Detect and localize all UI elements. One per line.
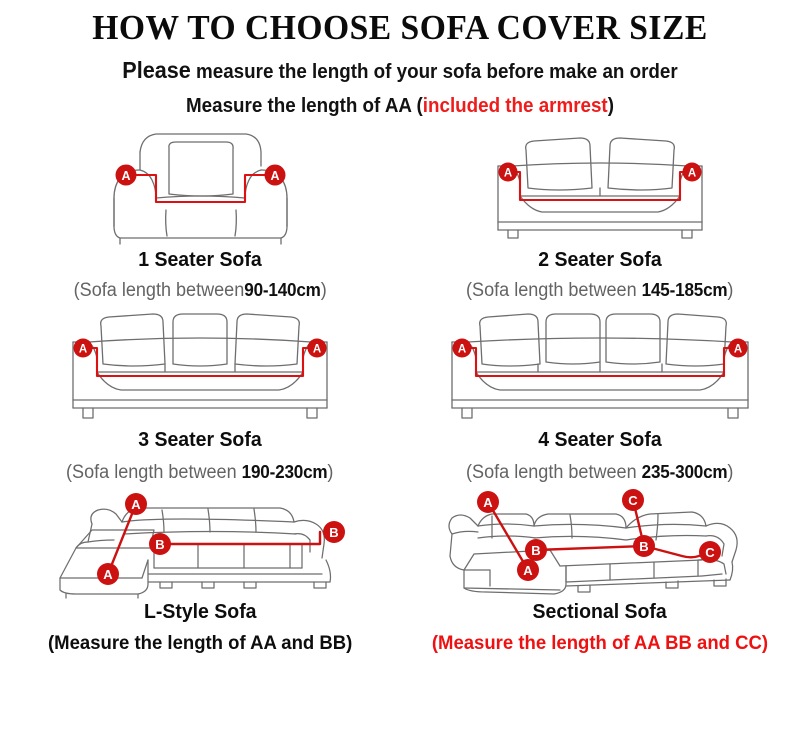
l-style-title: L-Style Sofa: [144, 602, 257, 623]
three-seater-caption-prefix: (Sofa length between: [66, 462, 237, 483]
one-seater-measurement: 90-140cm: [244, 280, 320, 300]
three-seater-title: 3 Seater Sofa: [138, 430, 261, 451]
sectional-illustration: A A B B C: [430, 482, 770, 600]
four-seater-marker-a-right: A: [729, 338, 748, 357]
sectional-marker-c-top: C: [622, 489, 644, 511]
four-seater-marker-a-left: A: [453, 338, 472, 357]
three-seater-marker-a-left: A: [74, 338, 93, 357]
l-style-marker-a-top: A: [125, 493, 147, 515]
svg-text:C: C: [705, 545, 715, 560]
sofa-cell-two-seater: A A 2 Seater Sofa (Sofa length between 1…: [400, 126, 800, 300]
l-style-marker-a-bottom: A: [97, 563, 119, 585]
sectional-title: Sectional Sofa: [533, 602, 667, 623]
sofa-grid: A A 1 Seater Sofa (Sofa length between90…: [0, 126, 800, 653]
three-seater-caption: (Sofa length between 190-230cm): [66, 463, 333, 482]
one-seater-measure-line: [126, 175, 275, 202]
sofa-cell-one-seater: A A 1 Seater Sofa (Sofa length between90…: [0, 126, 400, 300]
l-style-illustration: A A B B: [30, 482, 370, 600]
four-seater-caption-prefix: (Sofa length between: [466, 462, 637, 483]
two-seater-title: 2 Seater Sofa: [538, 250, 661, 271]
svg-text:A: A: [79, 343, 87, 355]
sofa-cell-three-seater: A A 3 Seater Sofa (Sofa length between 1…: [0, 300, 400, 483]
sectional-marker-a-bottom: A: [517, 559, 539, 581]
l-style-caption: (Measure the length of AA and BB): [48, 634, 352, 654]
two-seater-caption: (Sofa length between 145-185cm): [466, 281, 733, 300]
sofa-row-1: A A 1 Seater Sofa (Sofa length between90…: [0, 126, 800, 300]
svg-text:A: A: [734, 343, 742, 355]
svg-text:A: A: [523, 563, 533, 578]
three-seater-measurement: 190-230cm: [242, 462, 328, 482]
subtitle-rest: measure the length of your sofa before m…: [191, 61, 678, 83]
three-seater-marker-a-right: A: [308, 338, 327, 357]
sofa-cell-four-seater: A A 4 Seater Sofa (Sofa length between 2…: [400, 300, 800, 483]
one-seater-illustration: A A: [70, 126, 330, 248]
four-seater-caption-suffix: ): [728, 462, 734, 483]
two-seater-measurement: 145-185cm: [642, 280, 728, 300]
svg-text:B: B: [531, 543, 540, 558]
two-seater-marker-a-right: A: [683, 163, 702, 182]
svg-text:A: A: [313, 343, 321, 355]
subtitle-measure-instruction: Please measure the length of your sofa b…: [24, 45, 776, 82]
one-seater-caption: (Sofa length between90-140cm): [73, 281, 326, 300]
one-seater-caption-suffix: ): [321, 280, 327, 301]
two-seater-caption-prefix: (Sofa length between: [466, 280, 637, 301]
svg-text:A: A: [270, 169, 279, 183]
subtitle-aa-instruction: Measure the length of AA (included the a…: [24, 82, 776, 116]
sofa-cell-l-style: A A B B L-Style Sofa (Measure the length…: [0, 482, 400, 653]
header: HOW TO CHOOSE SOFA COVER SIZE Please mea…: [0, 0, 800, 116]
l-style-marker-b-right: B: [323, 521, 345, 543]
svg-text:B: B: [639, 539, 648, 554]
svg-text:B: B: [155, 537, 164, 552]
svg-text:A: A: [131, 497, 141, 512]
three-seater-caption-suffix: ): [328, 462, 334, 483]
subtitle-aa-suffix: ): [608, 95, 614, 117]
sofa-row-3: A A B B L-Style Sofa (Measure the length…: [0, 482, 800, 653]
svg-text:A: A: [504, 168, 512, 180]
four-seater-measurement: 235-300cm: [642, 462, 728, 482]
sectional-marker-c-bottom: C: [699, 541, 721, 563]
four-seater-illustration: A A: [430, 300, 770, 428]
subtitle-lead-word: Please: [122, 57, 191, 83]
svg-text:A: A: [688, 168, 696, 180]
two-seater-illustration: A A: [450, 126, 750, 248]
svg-text:A: A: [483, 495, 493, 510]
one-seater-marker-a-left: A: [116, 165, 137, 186]
sectional-marker-b-right: B: [633, 535, 655, 557]
one-seater-title: 1 Seater Sofa: [138, 250, 261, 271]
sofa-row-2: A A 3 Seater Sofa (Sofa length between 1…: [0, 300, 800, 483]
svg-text:A: A: [121, 169, 130, 183]
l-style-measure-lines: [108, 504, 320, 574]
one-seater-caption-prefix: (Sofa length between: [73, 280, 244, 301]
sofa-cell-sectional: A A B B C: [400, 482, 800, 653]
sectional-marker-a-top: A: [477, 491, 499, 513]
l-style-marker-b-left: B: [149, 533, 171, 555]
svg-text:A: A: [103, 567, 113, 582]
three-seater-illustration: A A: [45, 300, 355, 428]
one-seater-marker-a-right: A: [265, 165, 286, 186]
sectional-caption: (Measure the length of AA BB and CC): [432, 634, 768, 654]
sectional-marker-b-left: B: [525, 539, 547, 561]
subtitle-armrest-note: included the armrest: [423, 95, 608, 117]
four-seater-caption: (Sofa length between 235-300cm): [466, 463, 733, 482]
subtitle-aa-prefix: Measure the length of AA (: [186, 95, 423, 117]
four-seater-title: 4 Seater Sofa: [538, 430, 661, 451]
two-seater-marker-a-left: A: [499, 163, 518, 182]
svg-text:C: C: [628, 493, 638, 508]
svg-text:A: A: [458, 343, 466, 355]
two-seater-caption-suffix: ): [728, 280, 734, 301]
page-title: HOW TO CHOOSE SOFA COVER SIZE: [16, 0, 784, 45]
svg-text:B: B: [329, 525, 338, 540]
